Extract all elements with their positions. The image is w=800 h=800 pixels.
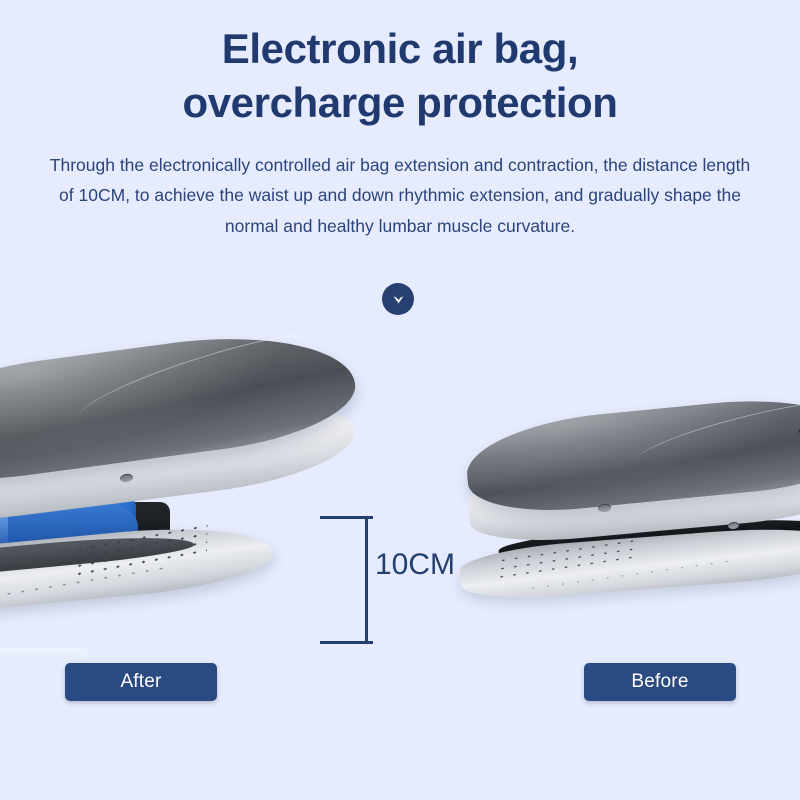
page-title: Electronic air bag, overcharge protectio…	[0, 0, 800, 130]
dimension-marker: 10CM	[320, 516, 450, 644]
header-section: Electronic air bag, overcharge protectio…	[0, 0, 800, 241]
dimension-line	[365, 518, 368, 642]
product-feature-page: Electronic air bag, overcharge protectio…	[0, 0, 800, 800]
dimension-cap-bottom	[320, 641, 373, 644]
before-shell-crease	[632, 390, 800, 476]
chevron-down-icon[interactable]	[382, 283, 414, 315]
after-airbag-highlight	[0, 648, 90, 661]
dimension-label: 10CM	[375, 550, 455, 580]
before-label-button[interactable]: Before	[584, 663, 736, 701]
after-shell-crease	[73, 318, 335, 437]
product-image-before	[452, 408, 800, 608]
after-label-button[interactable]: After	[65, 663, 217, 701]
product-image-after	[0, 350, 370, 620]
page-subtitle: Through the electronically controlled ai…	[0, 130, 800, 242]
